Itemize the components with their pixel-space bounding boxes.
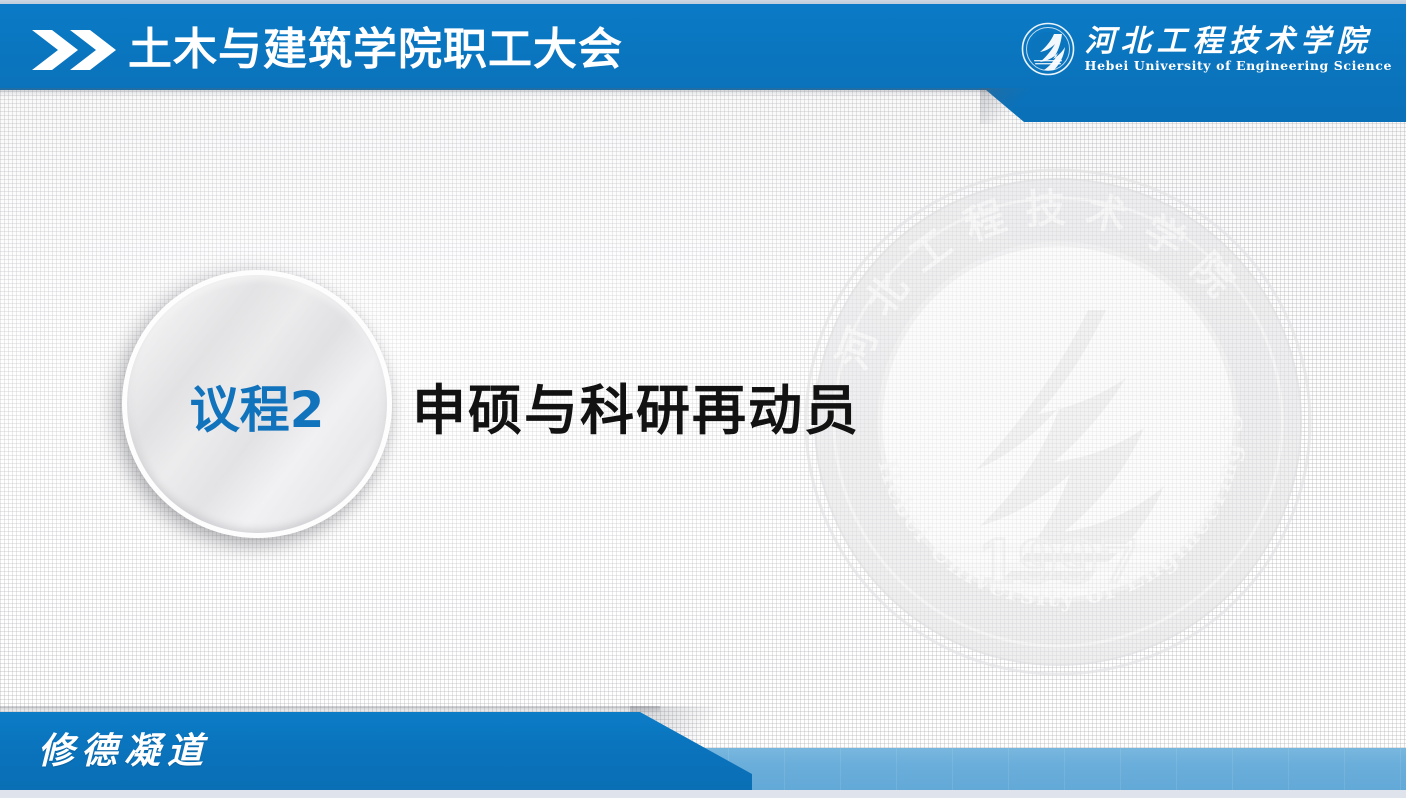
footer-motto: 修德凝道 [38, 722, 210, 774]
university-logo: 河北工程技术学院 Hebei University of Engineering… [1021, 22, 1392, 76]
page-title: 土木与建筑学院职工大会 [128, 20, 623, 80]
agenda-badge: 议程2 [122, 270, 392, 538]
bottom-edge-strip [0, 790, 1406, 798]
slide-canvas: 河 北 工 程 技 术 学 院 Hebei University of Engi… [0, 0, 1406, 798]
university-name-cn: 河北工程技术学院 [1085, 26, 1373, 58]
section-heading: 申硕与科研再动员 [412, 366, 860, 445]
agenda-badge-label: 议程2 [190, 370, 325, 442]
university-name-en: Hebei University of Engineering Science [1085, 58, 1392, 73]
double-chevron-right-icon [30, 28, 126, 72]
university-seal-icon [1021, 22, 1075, 76]
